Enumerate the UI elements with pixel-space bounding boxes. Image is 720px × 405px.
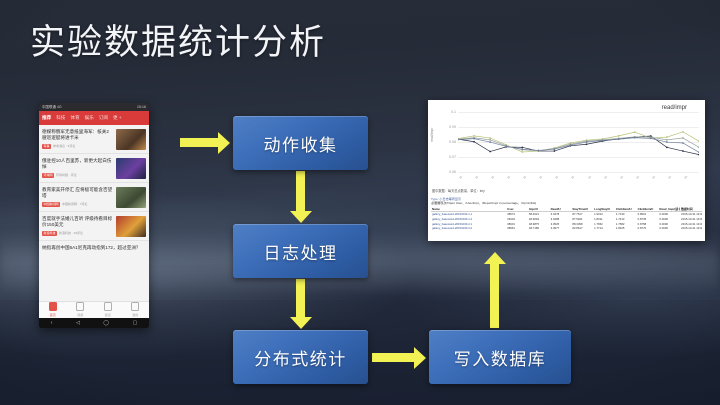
list-item[interactable]: 纳指再创中国6A1尼克再动指到172，超过亚洲？ [39,241,149,254]
chart-data-point [473,141,475,143]
table-cell: 1.8225 [615,226,637,231]
list-item[interactable]: 百度就手法婚儿百听 评级待看目标价150美元 新浪科技 新浪科技 · 28评论 [39,212,149,241]
grid-icon [104,302,112,311]
person-icon [131,302,139,311]
x-tick: 10-31 17:00 [651,176,665,180]
table-cell: 82.8617 [571,226,593,231]
status-time: 15:16 [137,103,146,111]
chart-data-point [586,141,588,143]
chart-title: read/impr [662,105,687,111]
flow-box-log-processing[interactable]: 日志处理 [233,224,368,278]
arrow-phone-to-collect-icon [180,136,230,149]
phone-tab-sports[interactable]: 体育 [70,111,79,125]
table-cell: 2015-10-31 13:00:00 [680,226,702,231]
chart-data-point [489,141,491,143]
news-headline: 纳指再创中国6A1尼克再动指到172，超过亚洲？ [42,245,146,251]
phone-tab-recommend[interactable]: 推荐 [42,111,51,125]
chart-data-point [682,137,684,139]
news-tag: 中国新闻网 [42,202,60,207]
phone-tab-bar[interactable]: 推荐 科技 体育 娱乐 订阅 更 + [39,111,149,125]
x-tick: 10-30 21:00 [570,176,584,180]
home-circle-icon[interactable]: ◯ [103,318,109,328]
chart-area: read/impr read/impr 0.1 0.09 0.08 0.07 0… [428,100,705,196]
news-tag: 军事 [42,144,51,149]
x-tick: 10-30 05:00 [506,176,520,180]
news-meta: 参考消息 · 5评论 [53,144,75,149]
phone-tab-more[interactable]: 更 + [113,111,122,125]
chart-data-point [682,142,684,144]
chart-data-point [634,131,636,133]
analytics-screenshot: read/impr read/impr 0.1 0.09 0.08 0.07 0… [428,100,705,241]
table-cell: 3.0977 [550,226,572,231]
table-cell: gallery_baseword-20151030-2.2 [431,226,506,231]
news-headline: 教育家美开停汇 应将极可能含否望塔 [42,187,113,200]
x-tick: 10-30 17:00 [554,176,568,180]
chart-data-point [489,137,491,139]
chart-data-point [521,146,523,148]
news-thumbnail-image [116,129,146,150]
table-cell: 38961 [506,226,528,231]
chart-x-axis: 10-29 17:0010-29 21:0010-30 01:0010-30 0… [458,176,699,196]
chart-data-point [554,150,556,152]
chart-plot [458,112,699,174]
video-icon [76,302,84,311]
table-subnote: 必要展现次/Open User、/UserImpr、/ReportImpr in… [431,201,702,205]
table-cell: 2015-10-31 13:00:00 [680,217,702,222]
x-tick: 11-01 01:00 [683,176,697,180]
chart-data-point [586,143,588,145]
table-cell: 48.7180 [528,226,550,231]
x-tick: 10-31 21:00 [667,176,681,180]
news-thumbnail-image [116,187,146,208]
phone-tab-tech[interactable]: 科技 [56,111,65,125]
chart-data-point [666,146,668,148]
y-tick: 0.1 [440,110,456,114]
chart-data-point [682,150,684,152]
news-meta: 环球时报 · 评论 [56,173,77,178]
y-tick: 0.06 [440,170,456,174]
chart-data-point [698,154,699,156]
table-row[interactable]: gallery_baseword-20151030-2.23896148.718… [431,226,702,231]
news-headline: 俄驻控10人百里苏，新更大起白伤悼 [42,158,113,171]
slide-canvas: 实验数据统计分析 中国联通 4G 15:16 推荐 科技 体育 娱乐 订阅 更 … [0,0,720,405]
news-meta: 中国新闻网 · 7评论 [62,202,87,207]
news-meta: 新浪科技 · 28评论 [59,231,83,236]
chart-data-point [618,135,620,137]
chart-data-point [634,137,636,139]
chart-data-point [618,138,620,140]
phone-tab-subscribe[interactable]: 订阅 [99,111,108,125]
flow-box-action-collection[interactable]: 动作收集 [233,116,368,170]
phone-mockup: 中国联通 4G 15:16 推荐 科技 体育 娱乐 订阅 更 + 德媒称俄军无意… [39,103,149,328]
phone-tab-entertainment[interactable]: 娱乐 [85,111,94,125]
chart-data-point [570,144,572,146]
table-cell: 0.8770 [637,226,659,231]
x-tick: 10-30 13:00 [538,176,552,180]
y-tick: 0.08 [440,140,456,144]
status-carrier: 中国联通 4G [42,103,62,111]
x-tick: 10-30 09:00 [522,176,536,180]
arrow-log-to-dist-icon [294,279,307,329]
phone-system-bar[interactable]: ‹ ◁ ◯ ▢ [39,318,149,328]
x-tick: 10-31 05:00 [603,176,617,180]
nav-item-profile[interactable]: 我的 [122,302,150,318]
table-cell: 1.7714 [593,226,615,231]
chart-data-point [537,150,539,152]
news-thumbnail-image [116,216,146,237]
page-title: 实验数据统计分析 [30,20,326,65]
table-body: gallery_baseword-20151030-1.13867458.462… [431,212,702,231]
table-column-header[interactable]: Read_Impr(读书率) [658,207,680,212]
chart-data-point [489,139,491,141]
news-tag: 新浪科技 [42,231,57,236]
table-cell: 0.0000 [658,226,680,231]
news-thumbnail-image [116,158,146,179]
chart-data-point [505,146,507,148]
nav-item-home[interactable]: 首页 [39,302,67,318]
arrow-dist-to-db-icon [372,351,426,364]
chart-data-point [473,138,475,140]
home-icon [49,302,57,311]
data-table: NameUserImpr/URead/UStayTime/ULongStay/U… [431,207,702,231]
nav-item-channel[interactable]: 频道 [94,302,122,318]
y-tick: 0.07 [440,155,456,159]
chart-data-point [473,135,475,137]
data-table-area: Type: 小日志等周显示 必要展现次/Open User、/UserImpr、… [428,196,705,241]
flow-box-write-database[interactable]: 写入数据库 [429,330,571,384]
phone-bottom-nav[interactable]: 首页 视频 频道 我的 [39,301,149,318]
flow-box-distributed-stats[interactable]: 分布式统计 [233,330,368,384]
phone-news-feed[interactable]: 德媒称俄军无意抵里海军：核关2艘巡逻艇将进卡米 军事 参考消息 · 5评论 俄驻… [39,125,149,301]
phone-status-bar: 中国联通 4G 15:16 [39,103,149,111]
chart-data-point [682,131,684,133]
chart-y-axis-label: read/impr [430,128,434,142]
chart-data-point [650,137,652,139]
x-tick: 10-31 13:00 [635,176,649,180]
list-item[interactable]: 德媒称俄军无意抵里海军：核关2艘巡逻艇将进卡米 军事 参考消息 · 5评论 [39,125,149,154]
chart-data-point [489,151,491,153]
arrow-collect-to-log-icon [294,171,307,223]
chart-data-point [602,140,604,142]
news-headline: 百度就手法婚儿百听 评级待看目标价150美元 [42,216,113,229]
menu-icon[interactable]: ‹ [51,318,53,328]
list-item[interactable]: 俄驻控10人百里苏，新更大起白伤悼 环球网 环球时报 · 评论 [39,154,149,183]
x-tick: 10-31 09:00 [619,176,633,180]
x-tick: 10-29 17:00 [458,176,472,180]
x-tick: 10-31 01:00 [587,176,601,180]
nav-item-video[interactable]: 视频 [67,302,95,318]
y-tick: 0.09 [440,125,456,129]
chart-series-line [458,136,699,155]
arrow-db-to-chart-icon [488,252,501,328]
back-icon[interactable]: ◁ [76,318,80,328]
list-item[interactable]: 教育家美开停汇 应将极可能含否望塔 中国新闻网 中国新闻网 · 7评论 [39,183,149,212]
news-headline: 德媒称俄军无意抵里海军：核关2艘巡逻艇将进卡米 [42,129,113,142]
x-tick: 10-29 21:00 [474,176,488,180]
chart-caption: 图中数据：每天总点数量，单位：key [432,188,485,193]
chart-data-point [521,151,523,153]
chart-data-point [666,139,668,141]
news-tag: 环球网 [42,173,54,178]
x-tick: 10-30 01:00 [490,176,504,180]
chart-data-point [554,148,556,150]
chart-data-point [666,136,668,138]
recents-icon[interactable]: ▢ [133,318,138,328]
chart-series-line [458,132,699,152]
chart-data-point [666,141,668,143]
chart-data-point [521,148,523,150]
